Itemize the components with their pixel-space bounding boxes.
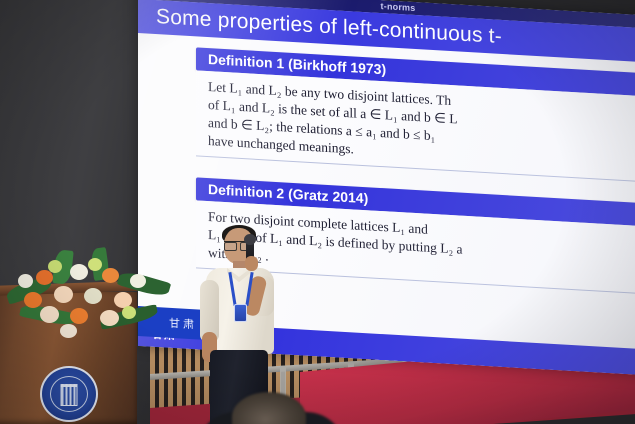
conference-photo-scene: 甘肃 t-norms Some properties of left-conti… — [0, 0, 635, 424]
floral-arrangement — [14, 248, 166, 338]
presenter-hand — [245, 256, 258, 271]
conference-badge — [234, 304, 247, 322]
microphone-head-icon — [244, 234, 256, 245]
definition-block-1: Definition 1 (Birkhoff 1973) Let L₁ and … — [196, 47, 635, 183]
side-banner-text: 甘肃 — [169, 315, 197, 333]
university-seal-emblem — [40, 366, 98, 422]
